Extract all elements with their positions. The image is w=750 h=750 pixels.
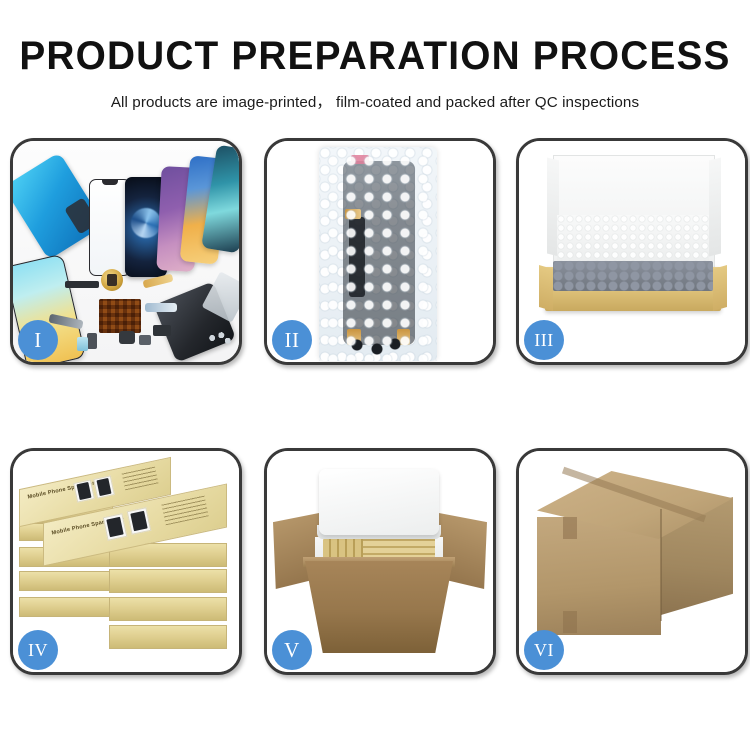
process-step-panel-3[interactable]: III <box>516 138 748 365</box>
carton-tape-tab-top-icon <box>563 517 577 539</box>
carton-body-icon <box>305 561 453 653</box>
process-row-1: I II <box>0 138 750 365</box>
process-steps-grid: I II <box>0 138 750 750</box>
foam-sheet-icon <box>557 215 709 267</box>
step-badge-2: II <box>272 320 312 360</box>
small-part-5-icon <box>139 335 151 345</box>
page-subtitle: All products are image-printed， film-coa… <box>0 76 750 112</box>
box-artwork-back-1 <box>73 479 95 502</box>
flex-cable-silver-icon <box>145 303 177 312</box>
foam-lid-icon <box>319 469 439 535</box>
packed-contents-icon <box>553 261 713 291</box>
screen-flex-cable-icon <box>349 217 365 297</box>
box-artwork-back-2 <box>93 475 115 498</box>
process-step-panel-6[interactable]: VI <box>516 448 748 675</box>
process-step-panel-2[interactable]: II <box>264 138 496 365</box>
process-step-panel-5[interactable]: V <box>264 448 496 675</box>
header: PRODUCT PREPARATION PROCESS All products… <box>0 0 750 112</box>
page-title: PRODUCT PREPARATION PROCESS <box>11 0 739 76</box>
step-badge-4: IV <box>18 630 58 670</box>
small-part-3-icon <box>87 333 97 349</box>
step-badge-5: V <box>272 630 312 670</box>
step-badge-3: III <box>524 320 564 360</box>
process-row-2: Mobile Phone Spare Parts Mobile Phone Sp… <box>0 448 750 675</box>
pink-label-icon <box>351 155 369 164</box>
step-badge-1: I <box>18 320 58 360</box>
small-part-4-icon <box>77 337 88 351</box>
gold-coil-part-icon <box>101 269 123 291</box>
process-step-panel-1[interactable]: I <box>10 138 242 365</box>
carton-tape-tab-bottom-icon <box>563 611 577 633</box>
small-part-1-icon <box>153 325 171 336</box>
carton-vertical-edge <box>660 509 662 621</box>
copper-grid-board-icon <box>99 299 141 333</box>
product-preparation-process-infographic: PRODUCT PREPARATION PROCESS All products… <box>0 0 750 750</box>
connector-top-icon <box>345 209 361 219</box>
speaker-bar-part-icon <box>65 281 99 288</box>
process-step-panel-4[interactable]: Mobile Phone Spare Parts Mobile Phone Sp… <box>10 448 242 675</box>
gold-box-left-flap <box>539 265 553 311</box>
component-cluster-icon <box>347 337 403 359</box>
screws-icon <box>207 331 233 345</box>
gold-box-right-flap <box>713 265 727 311</box>
bubble-wrap-bag-icon <box>319 147 437 361</box>
foam-lid-right-edge <box>709 158 721 257</box>
small-part-2-icon <box>119 331 135 344</box>
step-badge-6: VI <box>524 630 564 670</box>
